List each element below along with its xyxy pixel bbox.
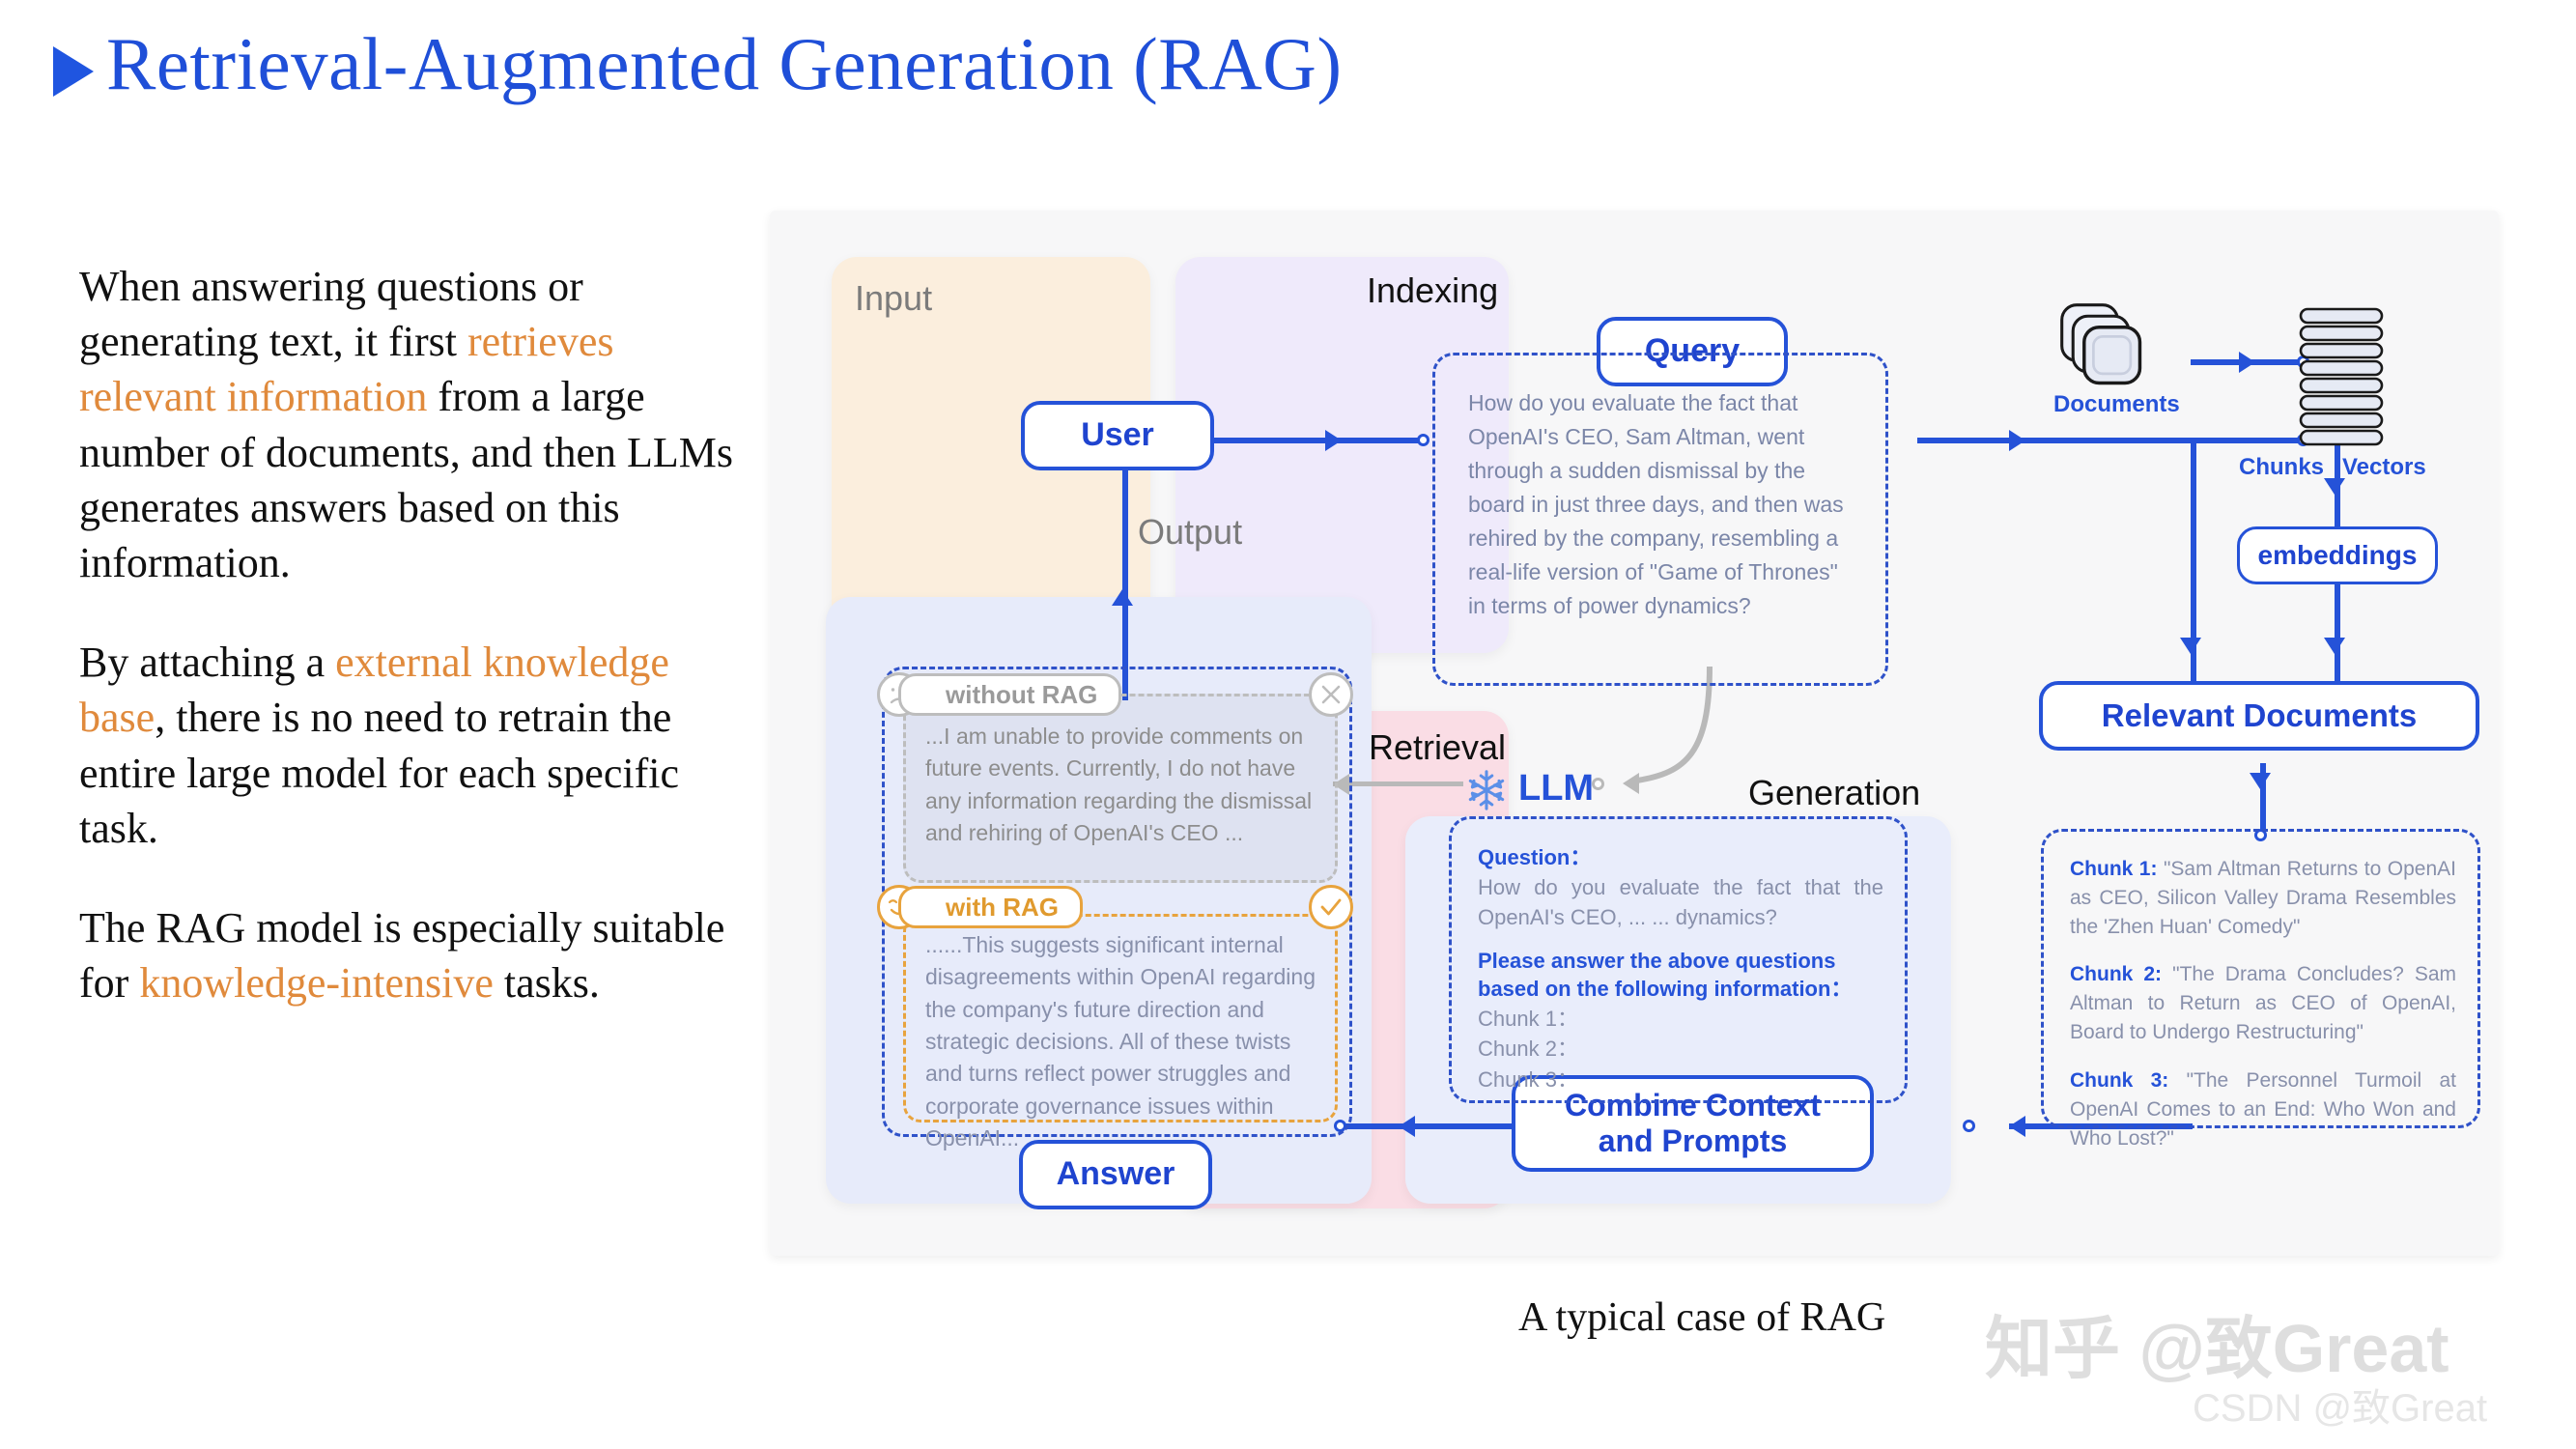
arrow-embeddings-down (2324, 638, 2345, 654)
combine-line-2: and Prompts (1599, 1123, 1788, 1159)
panel-output-title: Output (1138, 512, 1242, 553)
connector-user-to-query (1210, 438, 1423, 443)
connector-dot-query-in (1417, 434, 1430, 446)
watermark-secondary: CSDN @致Great (2193, 1377, 2487, 1433)
chunk-slot-1: Chunk 1： (1478, 1004, 1883, 1034)
page-title: Retrieval-Augmented Generation (RAG) (106, 21, 1343, 107)
panel-indexing-title: Indexing (1367, 270, 1498, 311)
arrow-output-up (1112, 589, 1133, 606)
node-embeddings[interactable]: embeddings (2237, 526, 2438, 584)
connector-answer-to-user (1122, 464, 1128, 700)
with-rag-text: ......This suggests significant internal… (925, 929, 1329, 1154)
node-llm-label: LLM (1518, 768, 1594, 810)
node-user[interactable]: User (1021, 401, 1214, 470)
retrieval-chunk-2-label: Chunk 2: (2070, 963, 2162, 985)
paragraph-2: By attaching a external knowledge base, … (79, 635, 746, 856)
connector-query-down-to-relevant (2191, 440, 2196, 692)
arrow-query-right (2009, 430, 2025, 451)
paragraph-3: The RAG model is especially suitable for… (79, 900, 746, 1010)
generation-prompt-content: Question： How do you evaluate the fact t… (1478, 842, 1883, 1094)
vector-stack-icon (2297, 307, 2386, 450)
p3-part-b: tasks. (494, 959, 600, 1007)
p2-part-a: By attaching a (79, 639, 335, 686)
triangle-right-icon (53, 46, 94, 97)
arrow-user-to-query (1325, 430, 1342, 451)
panel-retrieval-title: Retrieval (1369, 727, 1506, 768)
chunk-slot-3: Chunk 3： (1478, 1065, 1883, 1094)
connector-llm-to-without-rag (1333, 781, 1463, 786)
question-label: Question： (1478, 842, 1883, 872)
check-circle-icon (1309, 885, 1353, 929)
body-text: When answering questions or generating t… (79, 259, 746, 1055)
chunks-label: Chunks (2239, 454, 2324, 481)
arrow-documents-to-chunks (2239, 352, 2255, 373)
arrow-relevant-down (2250, 773, 2271, 789)
connector-embeddings-to-relevant (2335, 580, 2340, 691)
question-text: How do you evaluate the fact that the Op… (1478, 872, 1883, 932)
without-rag-text: ...I am unable to provide comments on fu… (925, 721, 1329, 849)
retrieval-chunk-1-label: Chunk 1: (2070, 858, 2157, 880)
connector-combine-to-answer (1343, 1123, 1512, 1129)
retrieval-chunk-3: Chunk 3: "The Personnel Turmoil at OpenA… (2070, 1066, 2456, 1152)
figure-caption: A typical case of RAG (1518, 1294, 1885, 1341)
connector-query-to-chunks (1917, 438, 2304, 443)
arrow-query-to-llm (1623, 773, 1639, 794)
without-rag-badge: without RAG (898, 673, 1121, 716)
cross-circle-icon (1309, 672, 1353, 717)
panel-input-title: Input (855, 278, 932, 319)
query-text: How do you evaluate the fact that OpenAI… (1468, 386, 1854, 623)
retrieval-chunk-3-label: Chunk 3: (2070, 1069, 2168, 1092)
documents-label: Documents (2053, 391, 2180, 418)
node-relevant-documents[interactable]: Relevant Documents (2039, 681, 2479, 751)
p3-highlight: knowledge-intensive (139, 959, 494, 1007)
with-rag-badge: with RAG (898, 886, 1083, 928)
paragraph-1: When answering questions or generating t… (79, 259, 746, 590)
prompt-instruction: Please answer the above questions based … (1478, 947, 1883, 1004)
chunk-slot-2: Chunk 2： (1478, 1034, 1883, 1064)
connector-dot-combine-right (1963, 1120, 1975, 1132)
retrieval-chunks-content: Chunk 1: "Sam Altman Returns to OpenAI a… (2070, 855, 2456, 1152)
vectors-label: Vectors (2342, 454, 2426, 481)
p2-part-b: , there is no need to retrain the entire… (79, 694, 679, 851)
snowflake-icon (1464, 768, 1509, 812)
arrow-combine-to-answer (1399, 1116, 1415, 1137)
retrieval-chunk-2: Chunk 2: "The Drama Concludes? Sam Altma… (2070, 960, 2456, 1046)
documents-stack-icon (2054, 298, 2151, 394)
retrieval-chunk-1: Chunk 1: "Sam Altman Returns to OpenAI a… (2070, 855, 2456, 941)
arrow-chunks-to-combine (2009, 1116, 2025, 1137)
arrow-query-down (2180, 638, 2201, 654)
